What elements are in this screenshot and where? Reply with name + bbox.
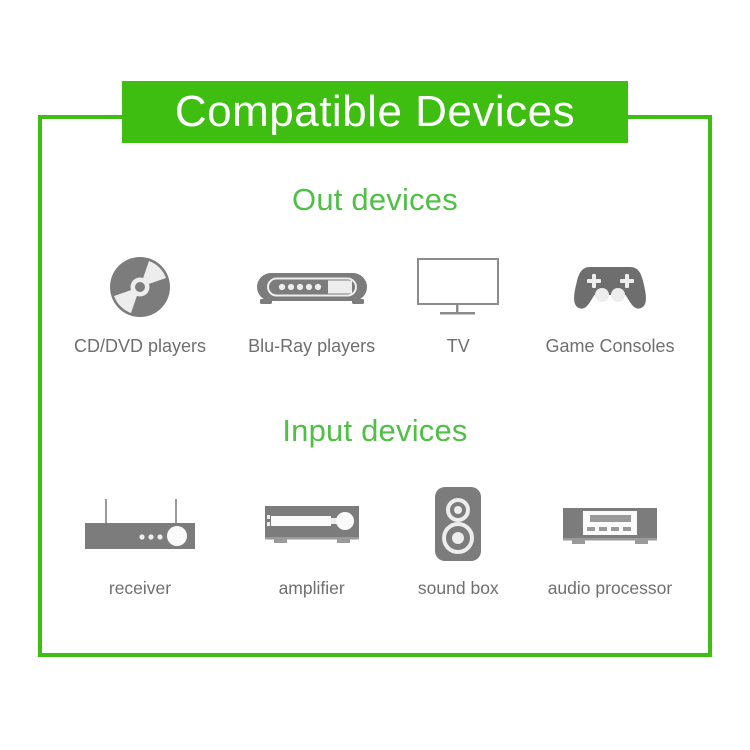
device-item-blu-ray-players: Blu-Ray players: [237, 248, 387, 357]
device-item-amplifier: amplifier: [237, 482, 387, 599]
tv-icon: [416, 248, 500, 326]
section-heading-input-devices: Input devices: [0, 413, 750, 449]
blu-ray-player-icon: [256, 248, 368, 326]
input-devices-row: receiver amplifier: [60, 482, 690, 599]
device-label: CD/DVD players: [74, 336, 206, 357]
page-title: Compatible Devices: [175, 90, 575, 134]
device-label: TV: [447, 336, 470, 357]
device-item-receiver: receiver: [60, 482, 220, 599]
receiver-icon: [81, 482, 199, 566]
audio-processor-icon: [560, 482, 660, 566]
device-item-tv: TV: [403, 248, 513, 357]
device-label: sound box: [418, 578, 499, 599]
section-heading-out-devices: Out devices: [0, 182, 750, 218]
device-item-sound-box: sound box: [403, 482, 513, 599]
out-devices-row: CD/DVD players Blu-Ray players: [60, 248, 690, 357]
game-controller-icon: [568, 248, 652, 326]
speaker-box-icon: [432, 482, 484, 566]
amplifier-icon: [262, 482, 362, 566]
device-label: Game Consoles: [545, 336, 674, 357]
device-label: Blu-Ray players: [248, 336, 375, 357]
device-item-audio-processor: audio processor: [530, 482, 690, 599]
compatible-devices-infographic: Compatible Devices Out devices CD/DVD pl…: [0, 0, 750, 750]
title-banner: Compatible Devices: [122, 81, 628, 143]
device-label: amplifier: [279, 578, 345, 599]
device-label: receiver: [109, 578, 171, 599]
device-item-game-consoles: Game Consoles: [530, 248, 690, 357]
cd-dvd-disc-icon: [109, 248, 171, 326]
device-item-cd-dvd-players: CD/DVD players: [60, 248, 220, 357]
device-label: audio processor: [548, 578, 673, 599]
